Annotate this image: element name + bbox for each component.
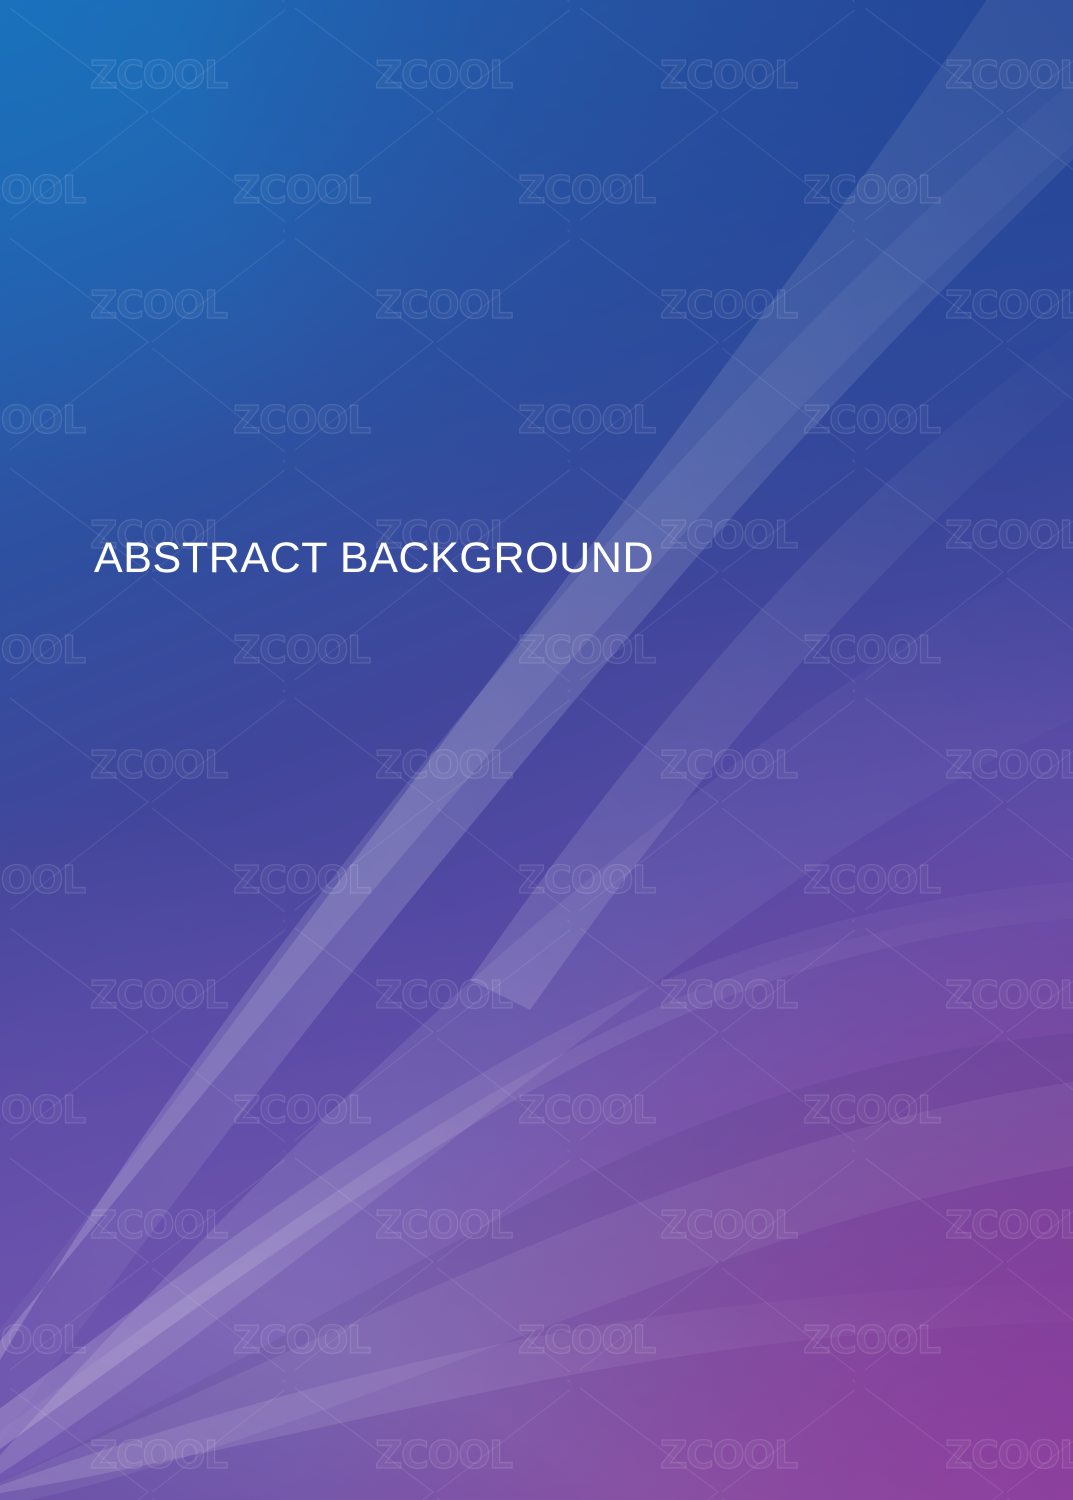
watermark-fill xyxy=(0,0,1073,1500)
poster-canvas: ZCOOL ZCOOL ZCOOL ABSTRACT BACKGROUND xyxy=(0,0,1073,1500)
zcool-watermark-overlay: ZCOOL ZCOOL ZCOOL xyxy=(0,0,1073,1500)
page-title: ABSTRACT BACKGROUND xyxy=(94,535,654,582)
